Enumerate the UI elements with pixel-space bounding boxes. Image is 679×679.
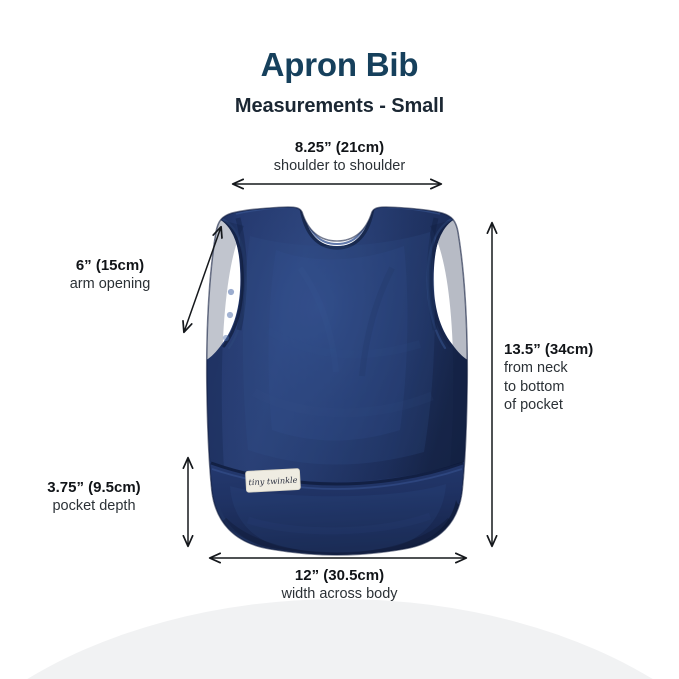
measurement-arm-opening: 6” (15cm) arm opening: [22, 256, 198, 294]
measurement-pocket-depth: 3.75” (9.5cm) pocket depth: [8, 478, 180, 516]
measurement-width-across-body: 12” (30.5cm) width across body: [0, 566, 679, 604]
measurement-value: 6” (15cm): [22, 256, 198, 275]
measurement-value: 12” (30.5cm): [0, 566, 679, 585]
measurement-value: 13.5” (34cm): [504, 340, 664, 359]
measurement-diagram: Apron Bib Measurements - Small: [0, 0, 679, 679]
measurement-neck-to-pocket: 13.5” (34cm) from neck to bottom of pock…: [504, 340, 664, 415]
measurement-description: width across body: [0, 585, 679, 604]
measurement-value: 3.75” (9.5cm): [8, 478, 180, 497]
bib-body: [196, 196, 480, 560]
measurement-description: pocket depth: [8, 497, 180, 516]
measurement-description-line-3: of pocket: [504, 396, 664, 415]
measurement-description-line-2: to bottom: [504, 378, 664, 397]
measurement-shoulder-to-shoulder: 8.25” (21cm) shoulder to shoulder: [0, 138, 679, 176]
measurement-description: shoulder to shoulder: [0, 157, 679, 176]
page-subtitle: Measurements - Small: [0, 95, 679, 118]
measurement-value: 8.25” (21cm): [0, 138, 679, 157]
brand-tag: tiny twinkle: [245, 469, 300, 493]
measurement-description: arm opening: [22, 275, 198, 294]
page-title: Apron Bib: [0, 46, 679, 84]
measurement-description-line-1: from neck: [504, 359, 664, 378]
